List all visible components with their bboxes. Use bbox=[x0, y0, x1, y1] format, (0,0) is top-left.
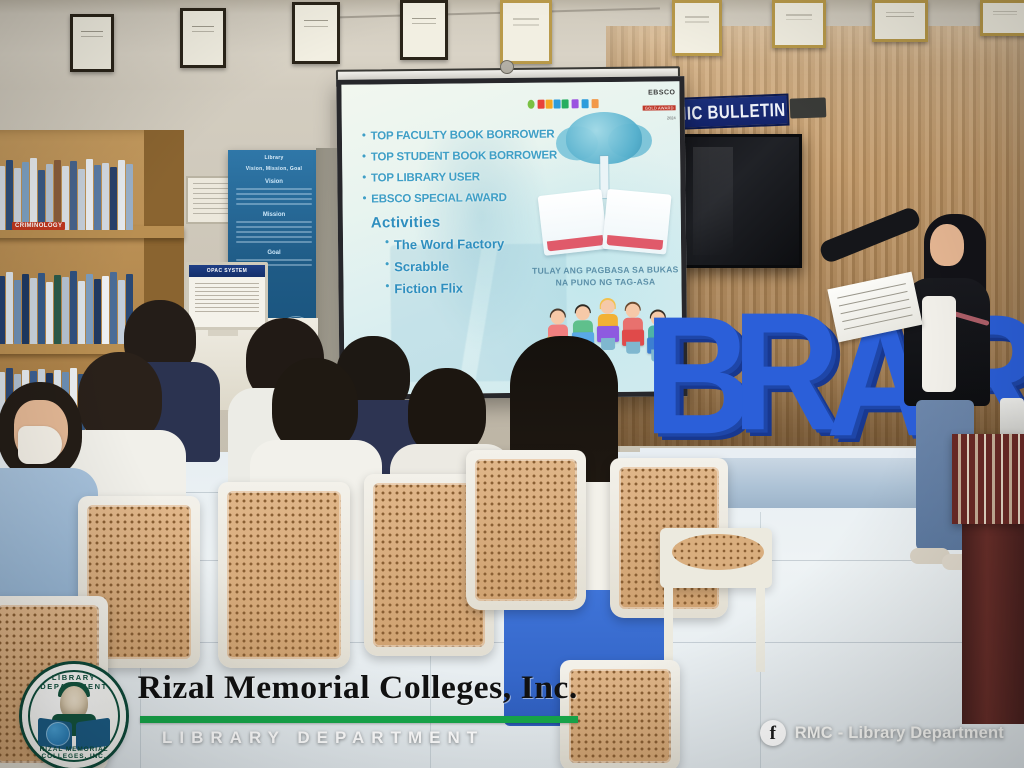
projector-screen-knob bbox=[500, 60, 514, 74]
ebsco-label: EBSCO bbox=[643, 89, 676, 96]
slide-activity-text: The Word Factory bbox=[394, 236, 504, 252]
bullet-glyph: • bbox=[362, 131, 366, 142]
slide-bullet-list: • TOP FACULTY BOOK BORROWER • TOP STUDEN… bbox=[362, 129, 554, 304]
watermark-divider bbox=[140, 716, 578, 723]
facebook-glyph: f bbox=[770, 724, 776, 743]
letter-block: B bbox=[644, 302, 744, 448]
framed-certificate bbox=[400, 0, 448, 60]
poster-subheading: Vision, Mission, Goal bbox=[228, 166, 320, 172]
monitor-content-lines bbox=[195, 283, 259, 315]
presenter-inner-shirt bbox=[922, 296, 956, 392]
partner-logo-3 bbox=[592, 99, 599, 108]
branding-watermark: LIBRARY DEPARTMENT RIZAL MEMORIAL COLLEG… bbox=[22, 660, 582, 760]
book-row bbox=[0, 156, 144, 230]
photo-scene: ONIC BULLETIN CRIMINOLOGY bbox=[0, 0, 1024, 768]
empty-chair-seat-cane bbox=[672, 534, 764, 570]
tagline-line-1: TULAY ANG PAGBASA SA BUKAS bbox=[531, 263, 679, 277]
slide-activity-text: Fiction Flix bbox=[394, 281, 463, 297]
bullet-glyph: • bbox=[362, 152, 366, 163]
tv-screen-glare bbox=[693, 147, 733, 255]
nbm-logo-mark bbox=[528, 99, 535, 108]
partner-logo-2 bbox=[582, 99, 589, 108]
slide-activity-item: • The Word Factory bbox=[385, 236, 553, 253]
framed-certificate bbox=[292, 2, 340, 64]
water-dispenser bbox=[1000, 398, 1024, 438]
opac-monitor: OPAC SYSTEM bbox=[186, 262, 268, 330]
framed-certificate bbox=[672, 0, 722, 56]
slide-bullet-text: TOP LIBRARY USER bbox=[371, 171, 480, 184]
seal-globe-icon bbox=[46, 722, 70, 746]
face-mask-icon bbox=[18, 426, 62, 464]
watermark-title: Rizal Memorial Colleges, Inc. bbox=[138, 670, 578, 707]
chair-back bbox=[466, 450, 586, 610]
tree-illustration bbox=[556, 112, 653, 197]
slide-activities-heading: Activities bbox=[371, 213, 553, 232]
poster-section-mission: Mission bbox=[228, 212, 320, 218]
chair-cane-panel bbox=[227, 491, 341, 659]
slide-bullet-item: • TOP FACULTY BOOK BORROWER bbox=[362, 129, 552, 143]
slide-bullet-text: EBSCO SPECIAL AWARD bbox=[371, 192, 507, 205]
chair-cane-panel bbox=[569, 669, 671, 763]
poster-section-goal: Goal bbox=[228, 250, 320, 256]
monitor-header-label: OPAC SYSTEM bbox=[189, 265, 265, 277]
monitor-header-bar: OPAC SYSTEM bbox=[189, 265, 265, 277]
podium-cloth bbox=[952, 434, 1024, 524]
bullet-glyph: • bbox=[385, 237, 389, 248]
shelf-category-label: CRIMINOLOGY bbox=[12, 222, 65, 230]
bullet-glyph: • bbox=[363, 194, 367, 205]
bullet-glyph: • bbox=[362, 173, 366, 184]
chair-back bbox=[218, 482, 350, 668]
framed-certificate bbox=[980, 0, 1024, 36]
facebook-page-credit[interactable]: f RMC - Library Department bbox=[760, 720, 1004, 746]
poster-heading: Library bbox=[228, 155, 320, 161]
slide-activity-item: • Fiction Flix bbox=[385, 280, 553, 297]
audience-head bbox=[408, 368, 486, 456]
open-book-illustration bbox=[534, 185, 675, 260]
bullet-glyph: • bbox=[385, 281, 389, 292]
podium bbox=[962, 492, 1024, 724]
facebook-icon: f bbox=[760, 720, 786, 746]
partner-logo-1 bbox=[572, 99, 579, 108]
slide-bullet-text: TOP FACULTY BOOK BORROWER bbox=[371, 129, 555, 143]
slide-bullet-item: • TOP LIBRARY USER bbox=[362, 171, 552, 185]
slide-bullet-item: • EBSCO SPECIAL AWARD bbox=[363, 192, 553, 206]
slide-activity-item: • Scrabble bbox=[385, 258, 553, 275]
letter-block: R bbox=[732, 298, 832, 444]
book-row bbox=[0, 270, 144, 344]
poster-section-vision: Vision bbox=[228, 179, 320, 185]
facebook-page-name: RMC - Library Department bbox=[795, 724, 1004, 743]
child-figure bbox=[596, 300, 621, 354]
watermark-subtitle: LIBRARY DEPARTMENT bbox=[162, 728, 484, 748]
framed-certificate bbox=[500, 0, 552, 64]
presenter-face bbox=[930, 224, 964, 266]
seal-bottom-text: RIZAL MEMORIAL COLLEGES, INC. bbox=[22, 746, 126, 760]
framed-certificate bbox=[70, 14, 114, 72]
wall-mounted-tv bbox=[678, 134, 802, 268]
bullet-glyph: • bbox=[385, 259, 389, 270]
slide-activity-text: Scrabble bbox=[394, 259, 449, 275]
wall-bracket bbox=[790, 97, 827, 118]
framed-certificate bbox=[180, 8, 226, 68]
framed-certificate bbox=[872, 0, 928, 42]
nbm-logo bbox=[538, 99, 569, 108]
slide-bullet-item: • TOP STUDENT BOOK BORROWER bbox=[362, 150, 552, 164]
framed-certificate bbox=[772, 0, 826, 48]
empty-chair-leg bbox=[756, 586, 765, 672]
chair-cane-panel bbox=[475, 459, 577, 601]
rmc-library-seal-logo: LIBRARY DEPARTMENT RIZAL MEMORIAL COLLEG… bbox=[22, 664, 126, 768]
